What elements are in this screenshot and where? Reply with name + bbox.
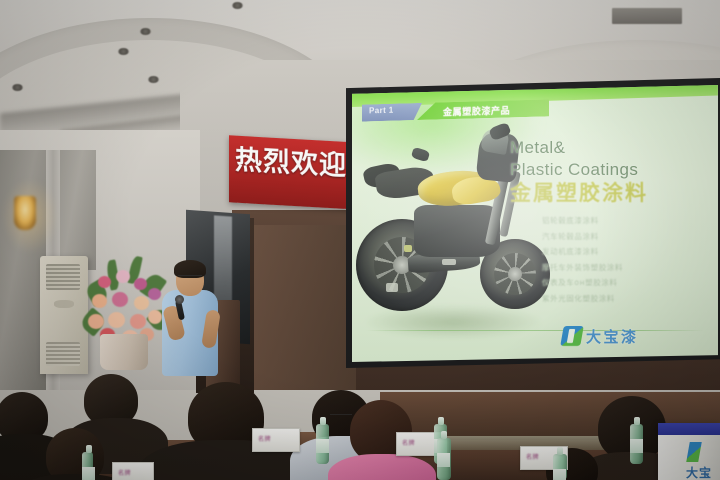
head (46, 428, 104, 480)
water-bottle[interactable] (316, 424, 329, 464)
bloom (134, 296, 149, 310)
shoulders (328, 454, 436, 480)
bloom (108, 312, 125, 328)
brand-logo: 大宝漆 (562, 323, 688, 349)
bloom (112, 292, 128, 307)
name-card-text: 名牌 (526, 452, 539, 461)
wood-panel-section (236, 225, 356, 390)
water-bottle[interactable] (630, 424, 643, 464)
microphone-head-icon (175, 295, 184, 304)
brake-detail (386, 283, 398, 292)
list-item: 紫外光固化塑胶涂料 (542, 291, 682, 307)
ceiling-vent (612, 8, 682, 24)
name-card-text: 名牌 (118, 468, 131, 477)
glasses-icon (178, 275, 202, 281)
water-bottle[interactable] (553, 454, 567, 480)
bottle-label (82, 467, 95, 480)
slide-title-chinese: 金属塑胶涂料 (510, 181, 718, 205)
flower-arrangement (78, 248, 172, 366)
name-card-text: 名牌 (402, 438, 415, 447)
list-item: 发动机底漆涂料 (542, 244, 682, 260)
downlight-icon (148, 76, 159, 83)
bag-handle[interactable] (658, 423, 720, 435)
list-item: 仪表及车он塑胶涂料 (542, 275, 682, 291)
bottle-label (553, 469, 566, 480)
bloom (92, 294, 107, 308)
brand-logo-text: 大宝漆 (586, 326, 639, 347)
water-bottle[interactable] (82, 452, 93, 480)
welcome-banner-text: 热烈欢迎 (235, 146, 359, 183)
projection-screen[interactable]: 金属塑胶漆产品 Part 1 (352, 85, 718, 362)
list-item: 摩托车外装饰塑胶涂料 (542, 260, 682, 276)
bloom (130, 314, 146, 329)
motorcycle-shadow (364, 305, 544, 339)
bottle-label (316, 439, 329, 453)
name-card: 名牌 (252, 428, 300, 452)
slide-section-title: 金属塑胶漆产品 (443, 103, 510, 118)
slide-bullet-list: 铝轮毂底漆涂料 汽车轮毂品涂料 发动机底漆涂料 摩托车外装饰塑胶涂料 仪表及车о… (542, 213, 682, 306)
list-item: 铝轮毂底漆涂料 (542, 213, 682, 229)
taiho-logo-icon (686, 442, 702, 462)
flower-vase (100, 334, 148, 370)
audience-member (30, 428, 120, 480)
taiho-logo-icon (560, 326, 584, 346)
bottle-label (630, 439, 643, 453)
downlight-icon (118, 48, 129, 55)
slide-title-line2: Plastic Coatings (510, 159, 710, 181)
conference-room-photo: 热烈欢迎 大 金属塑胶漆产品 Part 1 (0, 0, 720, 480)
caliper-detail (404, 245, 412, 252)
slide-title-english: Metal& Plastic Coatings (510, 137, 710, 181)
bloom (148, 288, 161, 300)
mirror-left (411, 147, 431, 163)
bloom (116, 270, 130, 283)
wall-sconce-light-icon (14, 196, 36, 230)
ac-badge (54, 300, 74, 308)
name-card-text: 名牌 (258, 434, 271, 443)
bloom (88, 314, 104, 329)
slide-part-tab: Part 1 (362, 103, 422, 122)
water-bottle[interactable] (437, 438, 451, 480)
ac-grille-bottom (46, 342, 80, 366)
ac-grille-top (46, 264, 80, 290)
downlight-icon (232, 2, 243, 9)
name-card: 名牌 (112, 462, 154, 480)
welcome-banner: 热烈欢迎 (229, 135, 361, 209)
slide-part-label: Part 1 (369, 106, 394, 116)
slide-title-line1: Metal& (510, 137, 710, 159)
downlight-icon (12, 84, 23, 91)
footpeg-detail (442, 259, 456, 265)
bloom (148, 310, 162, 324)
list-item: 汽车轮毂品涂料 (542, 229, 682, 245)
gift-bag[interactable]: 大宝 (658, 424, 720, 480)
bottle-label (437, 453, 450, 467)
bloom (98, 276, 111, 288)
gift-bag-logo-text: 大宝 (686, 464, 712, 480)
bloom (134, 278, 147, 290)
downlight-icon (140, 28, 151, 35)
rear-hub (508, 267, 522, 281)
